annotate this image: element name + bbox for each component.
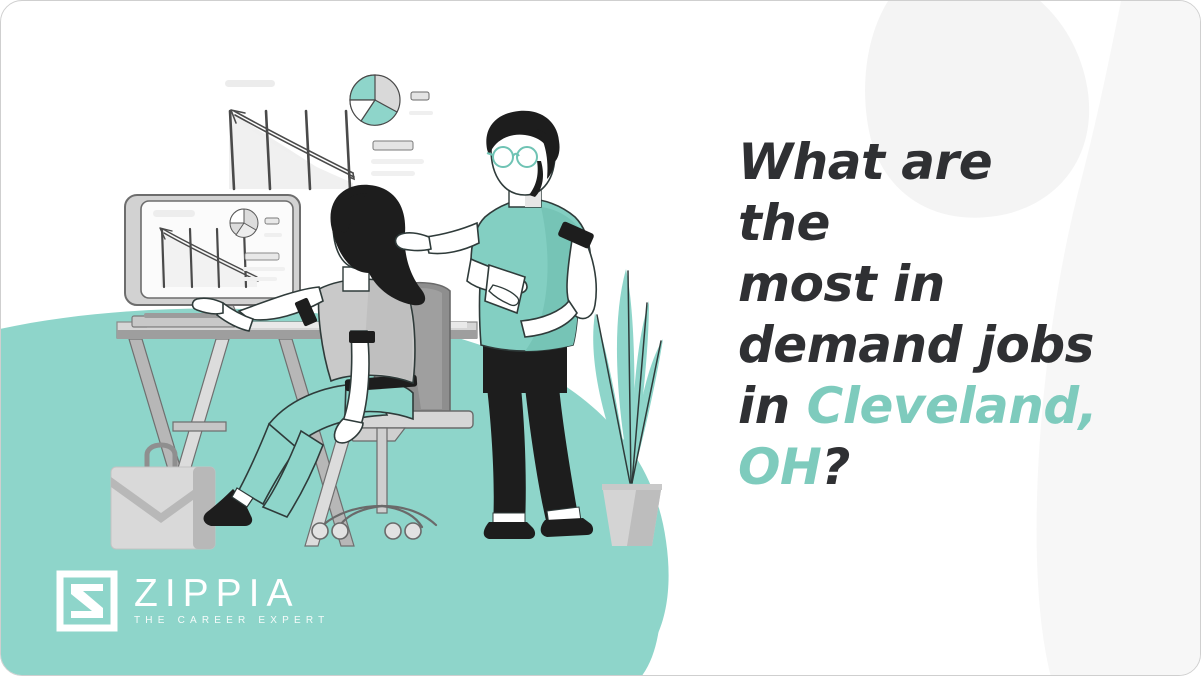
- headline-location-line-1: Cleveland,: [807, 377, 1098, 435]
- headline-question-mark: ?: [821, 438, 850, 496]
- logo-name: ZIPPIA: [134, 574, 329, 614]
- briefcase: [111, 445, 215, 549]
- headline-line-1: What are the: [738, 132, 1098, 254]
- wall-chart-title-placeholder: [225, 80, 275, 87]
- screen-title-placeholder: [153, 210, 195, 217]
- screen-text-bar: [245, 253, 279, 260]
- screen-legend-swatch: [265, 218, 279, 224]
- man-leg-left: [487, 387, 526, 525]
- zippia-wordmark: ZIPPIA THE CAREER EXPERT: [134, 574, 329, 628]
- wall-text-line-2: [371, 171, 415, 176]
- headline-line-5: OH?: [738, 437, 1098, 498]
- screen-legend-line: [264, 233, 282, 237]
- plant-pot-rim: [602, 484, 662, 490]
- woman-hand: [193, 298, 224, 314]
- zippia-logo[interactable]: ZIPPIA THE CAREER EXPERT: [56, 568, 329, 634]
- man-shoe-left: [484, 522, 535, 539]
- zippia-z-mark-icon: [56, 570, 118, 632]
- man-arm-left: [425, 223, 479, 254]
- screen-text-line-2: [243, 277, 277, 281]
- wall-chart-pie: [350, 75, 400, 125]
- man-shoe-right: [541, 518, 593, 537]
- screen-text-line-1: [243, 267, 285, 271]
- man-leg-right: [525, 387, 579, 525]
- screen-pie-chart: [230, 209, 258, 237]
- logo-tagline: THE CAREER EXPERT: [134, 614, 329, 628]
- wall-legend-line: [409, 111, 433, 115]
- zippia-hero-card: What are the most in demand jobs in Clev…: [0, 0, 1201, 676]
- headline-line-3: demand jobs: [738, 315, 1098, 376]
- headline-location-line-2: OH: [738, 438, 821, 496]
- potted-plant: [593, 269, 663, 546]
- woman-armband-2: [349, 331, 375, 343]
- briefcase-side: [193, 467, 215, 549]
- headline-prefix: in: [738, 377, 807, 435]
- headline-line-4: in Cleveland,: [738, 376, 1098, 437]
- plant-leaves: [593, 269, 663, 483]
- chair-wheels: [312, 523, 421, 539]
- wall-chart-group: [225, 75, 433, 189]
- man-hand-point: [396, 233, 431, 251]
- wall-legend-swatch: [411, 92, 429, 100]
- page-title: What are the most in demand jobs in Clev…: [738, 132, 1098, 498]
- wall-text-bar: [373, 141, 413, 150]
- chair-post: [377, 428, 387, 513]
- wall-text-line-1: [371, 159, 424, 164]
- headline-line-2: most in: [738, 254, 1098, 315]
